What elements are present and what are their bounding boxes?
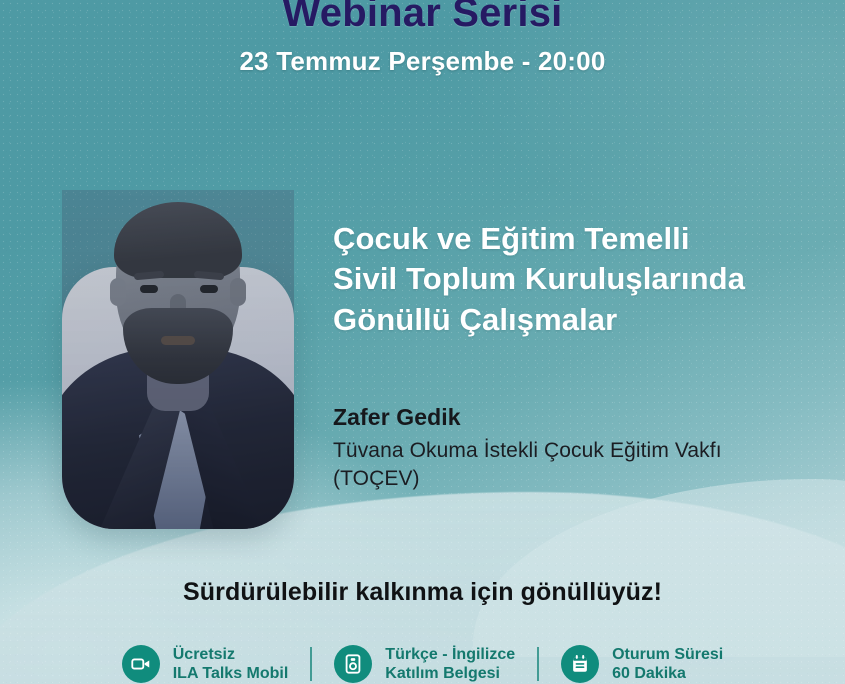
talk-title-line-2: Sivil Toplum Kuruluşlarında (333, 259, 833, 299)
poster-header: Webinar Serisi 23 Temmuz Perşembe - 20:0… (0, 0, 845, 77)
feature-line1: Ücretsiz (173, 646, 289, 665)
talk-title-line-1: Çocuk ve Eğitim Temelli (333, 219, 833, 259)
feature-divider (537, 647, 539, 681)
speaker-organization: Tüvana Okuma İstekli Çocuk Eğitim Vakfı … (333, 437, 833, 492)
webinar-poster: Webinar Serisi 23 Temmuz Perşembe - 20:0… (0, 0, 845, 684)
speaker-name: Zafer Gedik (333, 404, 833, 431)
feature-item-free: Ücretsiz ILA Talks Mobil (100, 645, 311, 684)
speaker-photo (62, 190, 294, 529)
feature-line1: Oturum Süresi (612, 646, 723, 665)
slogan: Sürdürülebilir kalkınma için gönüllüyüz! (0, 578, 845, 607)
speaker-organization-line-2: (TOÇEV) (333, 465, 833, 493)
speaker-info: Zafer Gedik Tüvana Okuma İstekli Çocuk E… (333, 404, 833, 492)
feature-item-certificate: Türkçe - İngilizce Katılım Belgesi (312, 645, 537, 684)
talk-title-line-3: Gönüllü Çalışmalar (333, 300, 833, 340)
feature-row: Ücretsiz ILA Talks Mobil Türkçe - İngili… (0, 645, 845, 684)
video-camera-icon (122, 645, 160, 683)
feature-text-free: Ücretsiz ILA Talks Mobil (173, 645, 289, 684)
talk-title: Çocuk ve Eğitim Temelli Sivil Toplum Kur… (333, 219, 833, 340)
feature-line2: Katılım Belgesi (385, 665, 515, 684)
page-title: Webinar Serisi (0, 0, 845, 34)
feature-line1: Türkçe - İngilizce (385, 646, 515, 665)
feature-item-duration: Oturum Süresi 60 Dakika (539, 645, 745, 684)
certificate-icon (334, 645, 372, 683)
feature-divider (310, 647, 312, 681)
feature-text-certificate: Türkçe - İngilizce Katılım Belgesi (385, 645, 515, 684)
feature-text-duration: Oturum Süresi 60 Dakika (612, 645, 723, 684)
speaker-photo-inner (62, 190, 294, 529)
speaker-organization-line-1: Tüvana Okuma İstekli Çocuk Eğitim Vakfı (333, 437, 833, 465)
feature-line2: 60 Dakika (612, 665, 723, 684)
feature-line2: ILA Talks Mobil (173, 665, 289, 684)
event-datetime: 23 Temmuz Perşembe - 20:00 (0, 46, 845, 77)
calendar-clock-icon (561, 645, 599, 683)
speaker-portrait-illustration (62, 190, 294, 529)
